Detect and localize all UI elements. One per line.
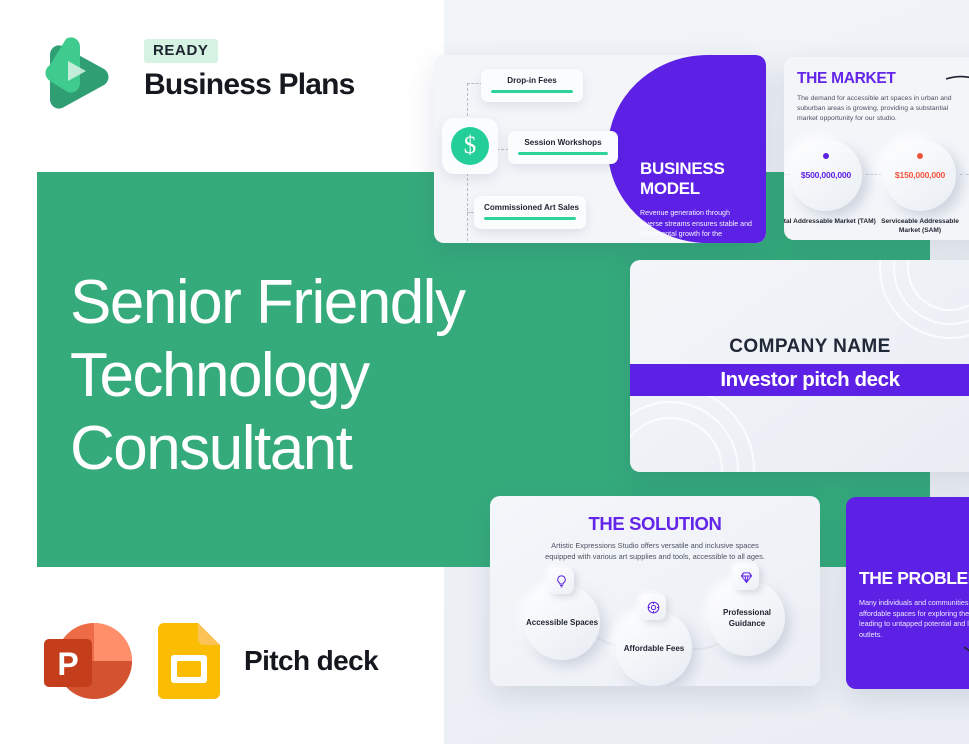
market-dash-mid — [866, 174, 882, 175]
diamond-icon — [733, 564, 759, 590]
market-metric-sam[interactable]: $150,000,000 — [884, 139, 956, 211]
revenue-chip-bar — [491, 90, 573, 93]
market-metric-tam[interactable]: $500,000,000 — [790, 139, 862, 211]
ready-badge: READY — [144, 39, 218, 63]
solution-node-label: Affordable Fees — [624, 643, 684, 654]
svg-text:P: P — [57, 646, 78, 682]
google-slides-icon[interactable] — [158, 623, 220, 699]
metric-value: $150,000,000 — [884, 170, 956, 180]
solution-node-affordable-fees[interactable]: Affordable Fees — [616, 610, 692, 686]
solution-node-label: Professional Guidance — [709, 607, 785, 629]
slide-company-name[interactable]: COMPANY NAME Investor pitch deck — [630, 260, 969, 472]
brand-logo[interactable]: READY Business Plans — [38, 33, 358, 117]
solution-node-label: Accessible Spaces — [526, 617, 598, 628]
market-title: THE MARKET — [797, 70, 896, 88]
investor-pitch-deck-band: Investor pitch deck — [630, 364, 969, 396]
market-body: The demand for accessible art spaces in … — [797, 94, 954, 124]
solution-node-accessible-spaces[interactable]: Accessible Spaces — [524, 584, 600, 660]
metric-dot — [917, 153, 923, 159]
revenue-chip-bar — [518, 152, 608, 155]
slide-the-market[interactable]: THE MARKET The demand for accessible art… — [784, 57, 969, 240]
slide-the-problem[interactable]: THE PROBLEM Many individuals and communi… — [846, 497, 969, 689]
metric-caption-tam: Total Addressable Market (TAM) — [784, 217, 876, 226]
lightbulb-icon — [548, 568, 574, 594]
revenue-chip-label: Commissioned Art Sales — [484, 203, 576, 212]
investor-pitch-deck-label: Investor pitch deck — [630, 364, 969, 396]
problem-body: Many individuals and communities lack ac… — [859, 598, 969, 640]
problem-title: THE PROBLEM — [859, 568, 969, 589]
solution-node-professional-guidance[interactable]: Professional Guidance — [709, 580, 785, 656]
revenue-chip-commissioned-art-sales[interactable]: Commissioned Art Sales — [474, 196, 586, 229]
slide-the-solution[interactable]: THE SOLUTION Artistic Expressions Studio… — [490, 496, 820, 686]
poster-canvas: READY Business Plans Senior Friendly Tec… — [0, 0, 969, 744]
metric-value: $500,000,000 — [790, 170, 862, 180]
company-name-label: COMPANY NAME — [630, 336, 969, 358]
revenue-chip-label: Session Workshops — [518, 138, 608, 147]
problem-curved-arrow-icon — [964, 645, 969, 675]
powerpoint-icon[interactable]: P — [40, 617, 132, 705]
page-title: Senior Friendly Technology Consultant — [70, 266, 490, 485]
metric-dot — [823, 153, 829, 159]
slide-business-model[interactable]: $ Drop-in Fees Session Workshops Commiss… — [434, 55, 766, 243]
curved-arrow-icon — [944, 71, 969, 119]
revenue-chip-label: Drop-in Fees — [491, 76, 573, 85]
dollar-icon-card: $ — [442, 118, 498, 174]
business-model-title: BUSINESS MODEL — [640, 159, 766, 199]
brand-name: Business Plans — [144, 68, 355, 102]
target-icon — [640, 594, 666, 620]
revenue-chip-bar — [484, 217, 576, 220]
play-triangle-logo-icon — [38, 33, 114, 113]
dollar-circle-icon: $ — [451, 127, 489, 165]
metric-caption-sam: Serviceable Addressable Market (SAM) — [870, 217, 969, 235]
revenue-chip-session-workshops[interactable]: Session Workshops — [508, 131, 618, 164]
market-dash-right — [960, 174, 969, 175]
brand-text-block: READY Business Plans — [144, 39, 355, 102]
business-model-body: Revenue generation through diverse strea… — [640, 208, 752, 243]
revenue-chip-drop-in-fees[interactable]: Drop-in Fees — [481, 69, 583, 102]
format-icons-row: P Pitch deck — [40, 616, 378, 706]
pitch-deck-label: Pitch deck — [244, 645, 378, 677]
